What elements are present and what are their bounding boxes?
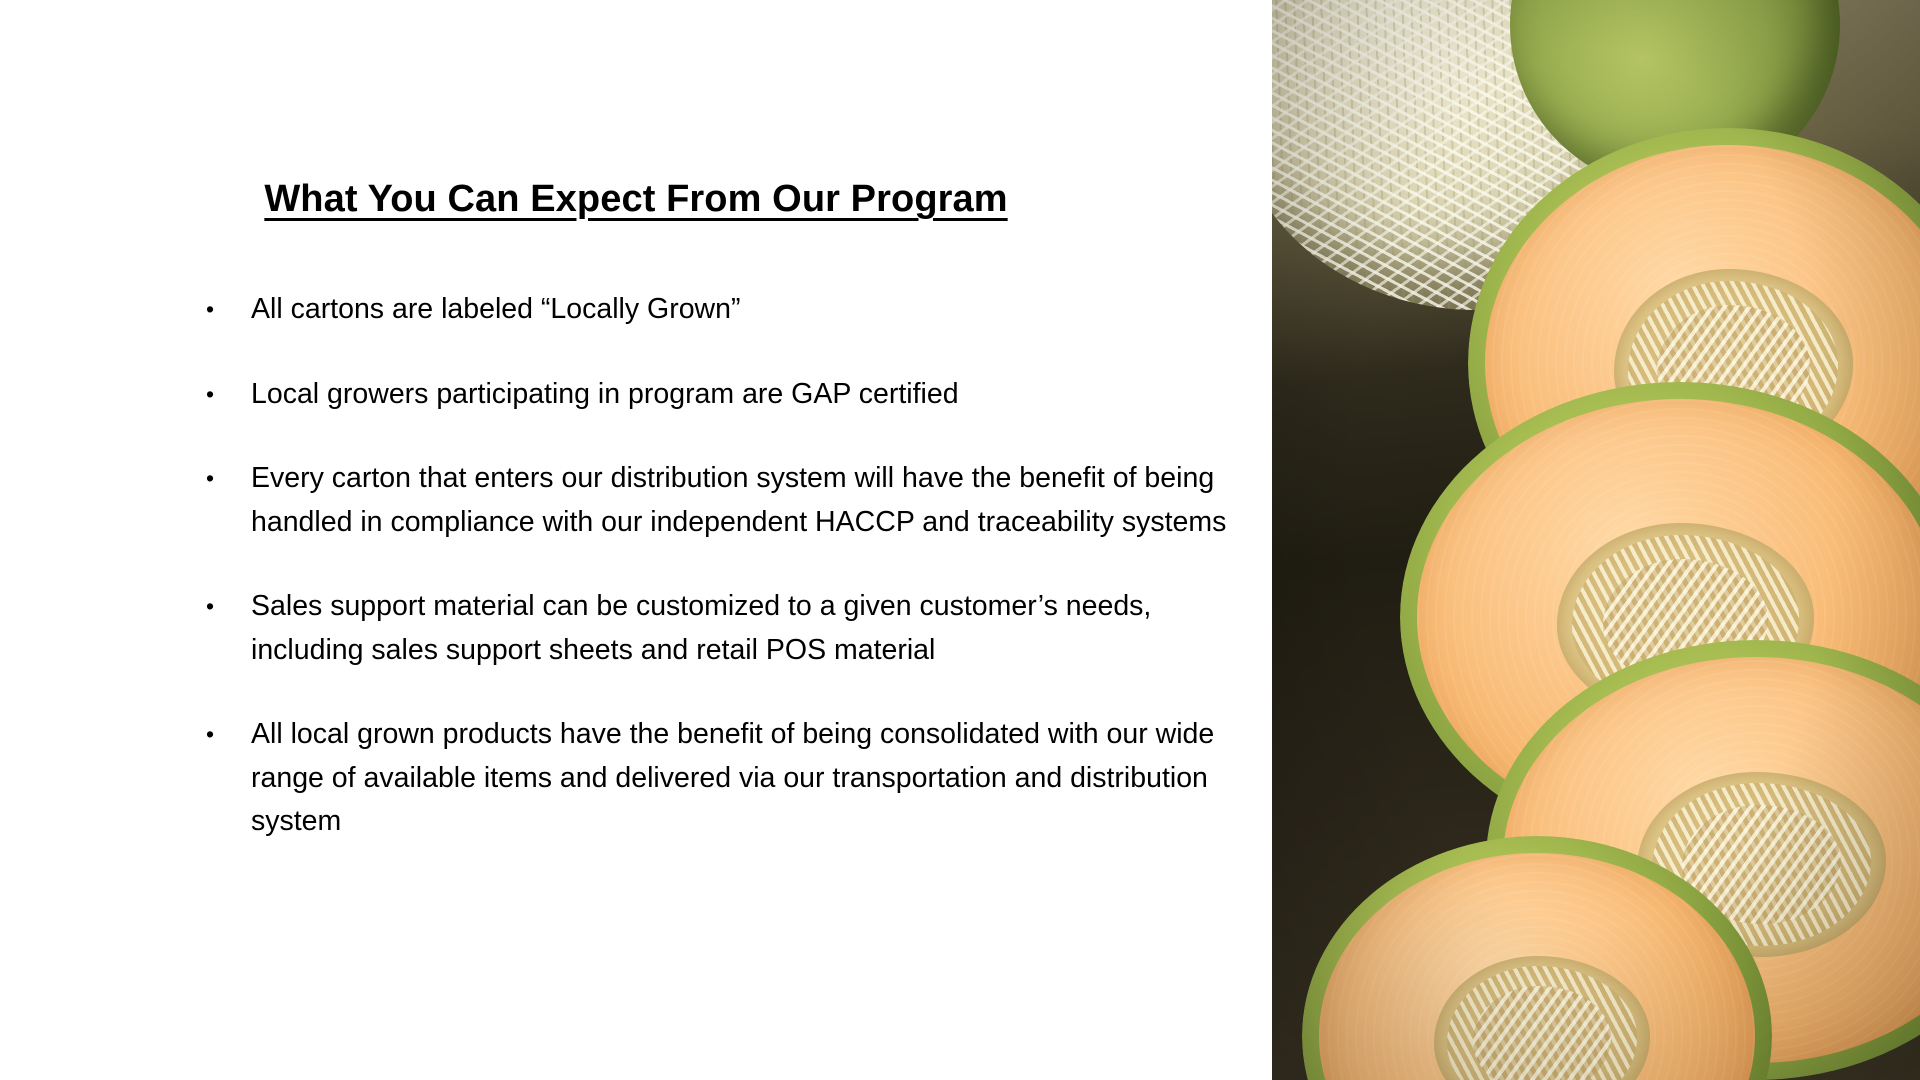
bullet-text-2: Local growers participating in program a… [251,373,1260,417]
bullet-item-5: • All local grown products have the bene… [200,713,1260,844]
bullet-marker-icon: • [206,713,226,757]
bullet-item-2: • Local growers participating in program… [200,373,1260,417]
bullet-item-4: • Sales support material can be customiz… [200,585,1260,672]
slide-title: What You Can Expect From Our Program [0,178,1272,222]
presentation-slide: What You Can Expect From Our Program • A… [0,0,1920,1080]
bullet-text-1: All cartons are labeled “Locally Grown” [251,288,1260,332]
bullet-marker-icon: • [206,457,226,501]
bullet-list: • All cartons are labeled “Locally Grown… [200,288,1260,844]
bullet-text-4: Sales support material can be customized… [251,585,1260,672]
bullet-marker-icon: • [206,288,226,332]
bullet-item-3: • Every carton that enters our distribut… [200,457,1260,544]
bullet-text-3: Every carton that enters our distributio… [251,457,1260,544]
bullet-marker-icon: • [206,585,226,629]
cantaloupe-photo [1272,0,1920,1080]
bullet-item-1: • All cartons are labeled “Locally Grown… [200,288,1260,332]
slide-content-area: What You Can Expect From Our Program • A… [0,0,1272,1080]
bullet-marker-icon: • [206,373,226,417]
slide-title-text: What You Can Expect From Our Program [264,178,1007,220]
bullet-text-5: All local grown products have the benefi… [251,713,1260,844]
